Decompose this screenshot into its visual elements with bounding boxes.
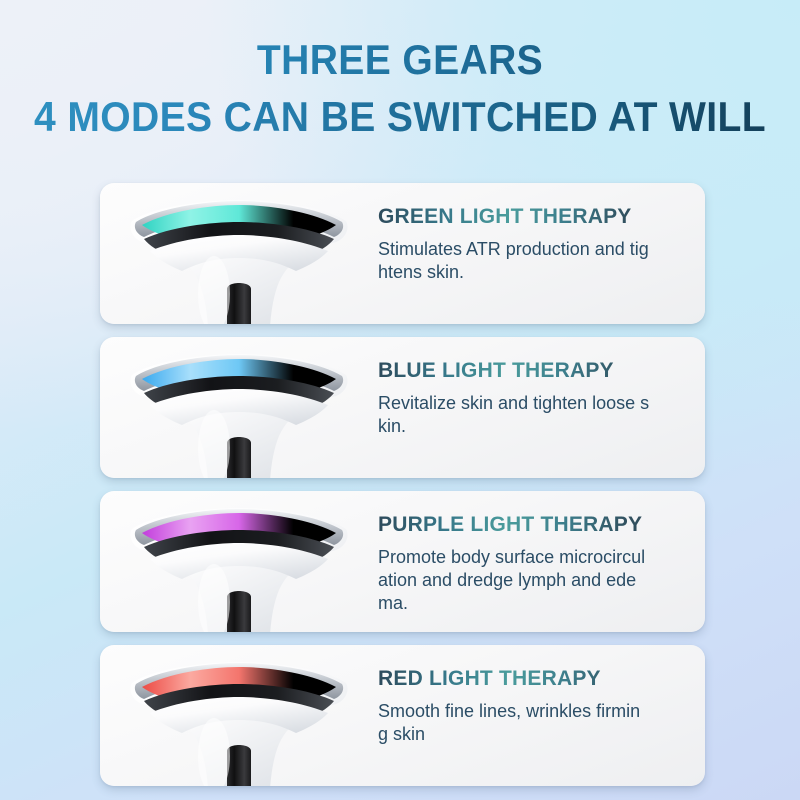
infographic-poster: THREE GEARS 4 MODES CAN BE SWITCHED AT W… — [0, 0, 800, 800]
neck-beauty-device-icon — [114, 348, 364, 478]
neck-beauty-device-icon — [114, 656, 364, 786]
therapy-mode-title: RED LIGHT THERAPY — [378, 667, 688, 690]
therapy-mode-description: Stimulates ATR production and tightens s… — [378, 238, 650, 284]
therapy-mode-text: BLUE LIGHT THERAPY Revitalize skin and t… — [378, 359, 688, 438]
headline-line-2: 4 MODES CAN BE SWITCHED AT WILL — [28, 95, 772, 139]
therapy-mode-card-4[interactable]: RED LIGHT THERAPY Smooth fine lines, wri… — [100, 645, 705, 786]
neck-beauty-device-icon — [114, 502, 364, 632]
neck-beauty-device-icon — [114, 194, 364, 324]
therapy-mode-title: PURPLE LIGHT THERAPY — [378, 513, 688, 536]
therapy-mode-title: BLUE LIGHT THERAPY — [378, 359, 688, 382]
therapy-mode-description: Revitalize skin and tighten loose skin. — [378, 392, 650, 438]
therapy-mode-card-list: GREEN LIGHT THERAPY Stimulates ATR produ… — [100, 183, 705, 786]
headline-block: THREE GEARS 4 MODES CAN BE SWITCHED AT W… — [0, 38, 800, 138]
therapy-mode-description: Smooth fine lines, wrinkles firming skin — [378, 700, 650, 746]
therapy-mode-card-1[interactable]: GREEN LIGHT THERAPY Stimulates ATR produ… — [100, 183, 705, 324]
therapy-mode-text: RED LIGHT THERAPY Smooth fine lines, wri… — [378, 667, 688, 746]
therapy-mode-card-3[interactable]: PURPLE LIGHT THERAPY Promote body surfac… — [100, 491, 705, 632]
therapy-mode-description: Promote body surface microcirculation an… — [378, 546, 650, 615]
therapy-mode-text: GREEN LIGHT THERAPY Stimulates ATR produ… — [378, 205, 688, 284]
therapy-mode-title: GREEN LIGHT THERAPY — [378, 205, 688, 228]
therapy-mode-card-2[interactable]: BLUE LIGHT THERAPY Revitalize skin and t… — [100, 337, 705, 478]
headline-line-1: THREE GEARS — [28, 38, 772, 82]
therapy-mode-text: PURPLE LIGHT THERAPY Promote body surfac… — [378, 513, 688, 615]
